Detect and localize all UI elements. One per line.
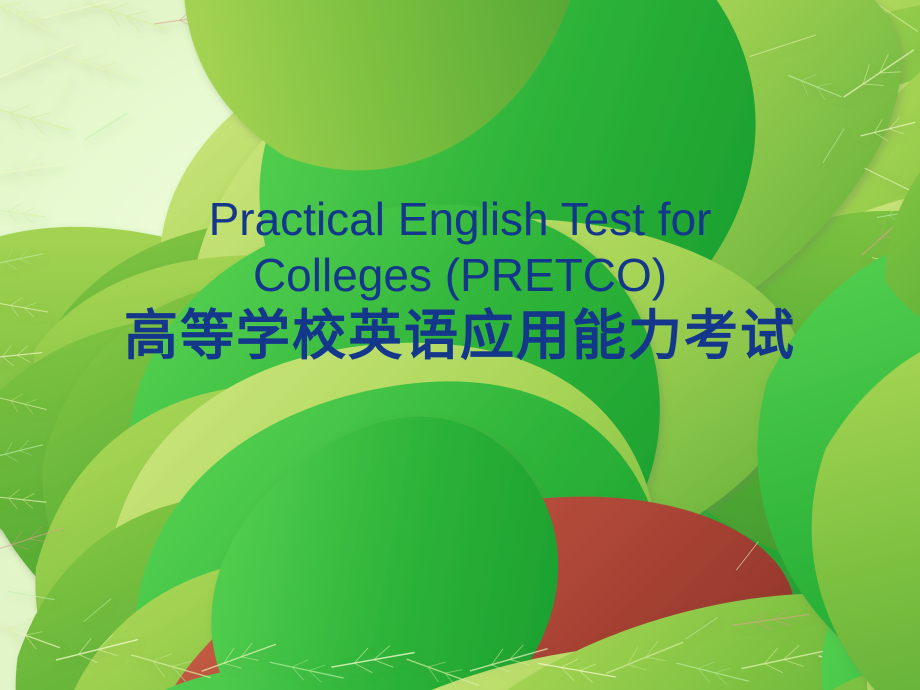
title-line-chinese: 高等学校英语应用能力考试 <box>120 304 800 368</box>
slide-title-block: Practical English Test for Colleges (PRE… <box>120 196 800 368</box>
title-line-english-2: Colleges (PRETCO) <box>120 252 800 298</box>
title-line-english-1: Practical English Test for <box>120 196 800 242</box>
slide-canvas: Practical English Test for Colleges (PRE… <box>0 0 920 690</box>
